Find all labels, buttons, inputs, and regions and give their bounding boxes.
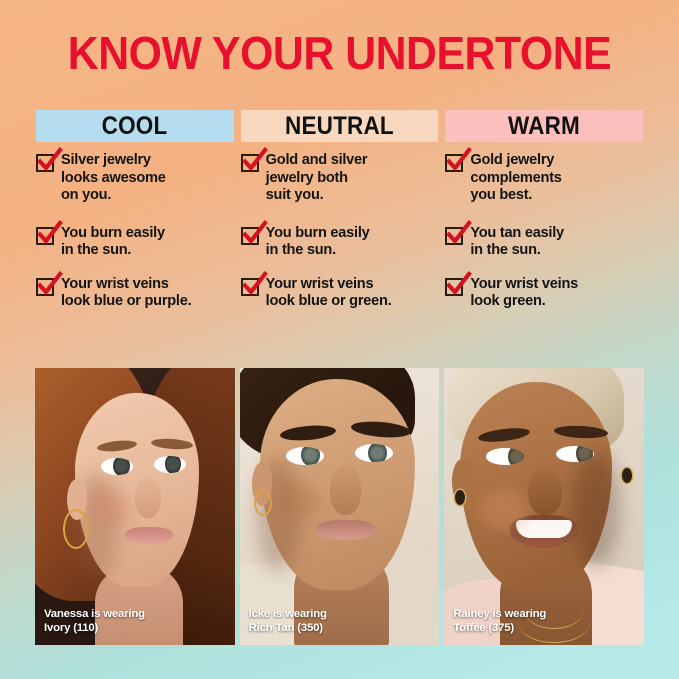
- photo-caption: Vanessa is wearing Ivory (110): [44, 608, 145, 635]
- checkbox-checked-icon: [241, 278, 259, 296]
- list-item: Your wrist veins look blue or purple.: [36, 276, 234, 311]
- infographic-root: KNOW YOUR UNDERTONE COOL NEUTRAL WARM Si…: [0, 0, 679, 679]
- list-item: You tan easily in the sun.: [445, 225, 643, 260]
- list-item: Silver jewelry looks awesome on you.: [36, 152, 234, 205]
- checklist-column-warm: Gold jewelry complements you best. You t…: [445, 152, 643, 352]
- list-item-label: Silver jewelry looks awesome on you.: [61, 152, 166, 205]
- model-photo-icke: Icke is wearing Rich Tan (350): [240, 368, 440, 645]
- checkbox-checked-icon: [241, 154, 259, 172]
- list-item: Gold and silver jewelry both suit you.: [241, 152, 439, 205]
- list-item-label: Your wrist veins look green.: [470, 276, 578, 311]
- undertone-header-row: COOL NEUTRAL WARM: [36, 110, 643, 142]
- column-header-warm: WARM: [445, 110, 643, 142]
- list-item: Gold jewelry complements you best.: [445, 152, 643, 205]
- model-photo-vanessa: Vanessa is wearing Ivory (110): [35, 368, 235, 645]
- photo-caption: Rainey is wearing Toffee (375): [453, 608, 546, 635]
- page-title: KNOW YOUR UNDERTONE: [24, 28, 655, 78]
- list-item-label: You tan easily in the sun.: [470, 225, 564, 260]
- checkbox-checked-icon: [241, 227, 259, 245]
- list-item-label: Your wrist veins look blue or green.: [266, 276, 392, 311]
- column-header-cool-label: COOL: [102, 112, 168, 141]
- earring-icon: [63, 509, 89, 549]
- list-item-label: You burn easily in the sun.: [266, 225, 370, 260]
- checkbox-checked-icon: [445, 227, 463, 245]
- list-item-label: Your wrist veins look blue or purple.: [61, 276, 191, 311]
- photo-caption: Icke is wearing Rich Tan (350): [249, 608, 327, 635]
- column-header-neutral: NEUTRAL: [241, 110, 439, 142]
- column-header-cool: COOL: [36, 110, 234, 142]
- list-item: Your wrist veins look green.: [445, 276, 643, 311]
- list-item-label: Gold jewelry complements you best.: [470, 152, 561, 205]
- list-item-label: You burn easily in the sun.: [61, 225, 165, 260]
- undertone-checklist: Silver jewelry looks awesome on you. You…: [36, 152, 643, 352]
- list-item: You burn easily in the sun.: [36, 225, 234, 260]
- list-item: Your wrist veins look blue or green.: [241, 276, 439, 311]
- list-item: You burn easily in the sun.: [241, 225, 439, 260]
- checkbox-checked-icon: [445, 278, 463, 296]
- checklist-column-neutral: Gold and silver jewelry both suit you. Y…: [241, 152, 439, 352]
- checkbox-checked-icon: [36, 278, 54, 296]
- model-photo-row: Vanessa is wearing Ivory (110): [35, 368, 644, 645]
- checkbox-checked-icon: [36, 227, 54, 245]
- earring-icon: [254, 490, 272, 516]
- checklist-column-cool: Silver jewelry looks awesome on you. You…: [36, 152, 234, 352]
- checkbox-checked-icon: [445, 154, 463, 172]
- model-photo-rainey: Rainey is wearing Toffee (375): [444, 368, 644, 645]
- checkbox-checked-icon: [36, 154, 54, 172]
- list-item-label: Gold and silver jewelry both suit you.: [266, 152, 368, 205]
- column-header-warm-label: WARM: [508, 112, 580, 141]
- column-header-neutral-label: NEUTRAL: [285, 112, 394, 141]
